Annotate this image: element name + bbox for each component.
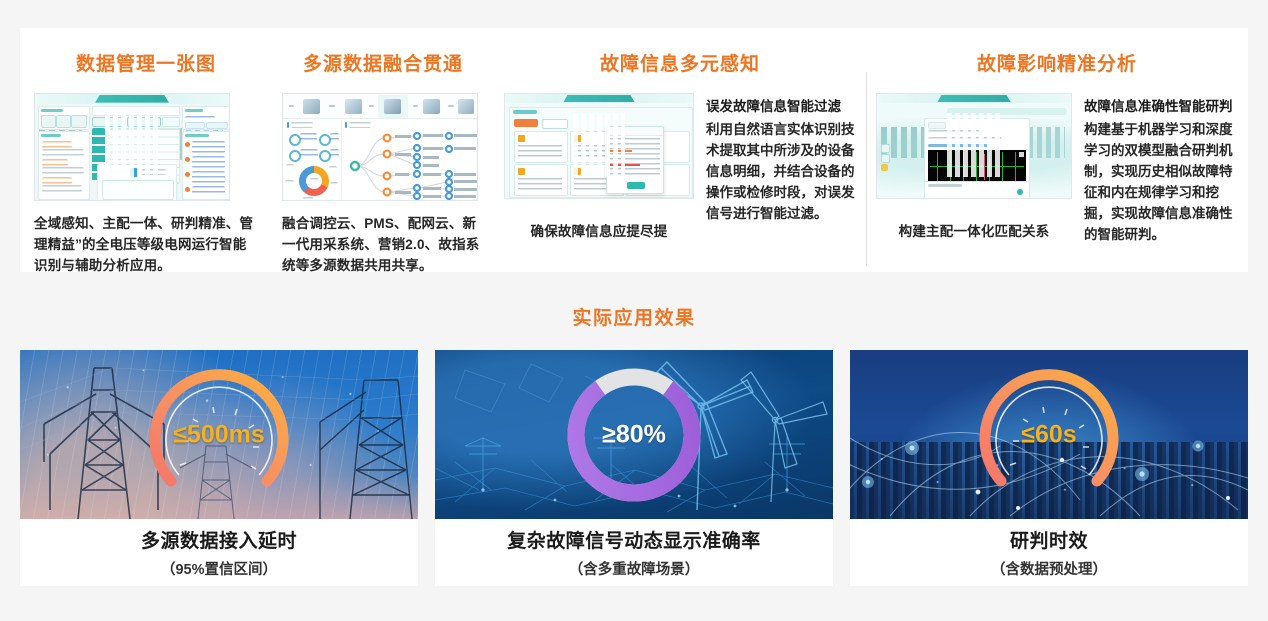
feature-caption-2: 融合调控云、PMS、配网云、新一代用采系统、营销2.0、故指系统等多源数据共用共…	[282, 213, 484, 276]
metric-title-1: 多源数据接入延时	[141, 526, 297, 553]
feature-subtext-3: 利用自然语言实体识别技术提取其中所涉及的设备信息明细，并结合设备的操作或检修时段…	[706, 119, 856, 224]
feature-caption-4: 构建主配一体化匹配关系	[876, 221, 1072, 242]
fusion-icon-2	[345, 99, 362, 114]
fault-information-perception-screenshot	[504, 93, 694, 199]
feature-title-1: 数据管理一张图	[34, 49, 258, 76]
turnaround-gauge: ≤60s	[969, 355, 1129, 515]
wind-turbines-grid-wireframe-photo: ≥80%	[435, 350, 833, 519]
metric-card-1: ≤500ms 多源数据接入延时 （95%置信区间）	[20, 350, 418, 586]
feature-subheading-3: 误发故障信息智能过滤	[706, 95, 856, 115]
shot-alarm-card	[514, 164, 568, 196]
feature-title-3: 故障信息多元感知	[504, 49, 856, 76]
shot-filter-3	[162, 117, 180, 127]
feature-card-3: 故障信息多元感知	[494, 28, 866, 272]
feature-card-4: 故障影响精准分析	[866, 28, 1248, 272]
shot-side-tool-3[interactable]	[881, 164, 888, 171]
metric-title-2: 复杂故障信号动态显示准确率	[507, 526, 761, 553]
city-skyline-network-photo: ≤60s	[850, 350, 1248, 519]
fusion-icon-5	[458, 99, 474, 114]
metric-card-body-1: 多源数据接入延时 （95%置信区间）	[20, 519, 418, 586]
fusion-icon-4	[423, 99, 440, 114]
shot-topbar	[35, 94, 229, 104]
shot-side-tool-2[interactable]	[881, 154, 890, 163]
transmission-towers-night-photo: ≤500ms	[20, 350, 418, 519]
fusion-icon-1	[303, 99, 320, 114]
shot-left-pane	[38, 106, 90, 130]
fusion-tree-diagram	[341, 124, 478, 201]
metric-card-2: ≥80% 复杂故障信号动态显示准确率 （含多重故障场景）	[435, 350, 833, 586]
feature-subtext-4: 构建基于机器学习和深度学习的双模型融合研判机制，实现历史相似故障特征和内在规律学…	[1084, 119, 1238, 245]
shot-topbar-title	[947, 113, 1001, 177]
metric-card-body-2: 复杂故障信号动态显示准确率 （含多重故障场景）	[435, 519, 833, 586]
feature-title-4: 故障影响精准分析	[876, 49, 1238, 76]
latency-gauge: ≤500ms	[139, 355, 299, 515]
metric-cards: ≤500ms 多源数据接入延时 （95%置信区间）	[20, 350, 1248, 586]
multi-source-data-fusion-screenshot	[282, 93, 478, 201]
shot-left-list-pane	[38, 131, 90, 200]
shot-side-tool-1[interactable]	[881, 144, 890, 153]
accuracy-gauge: ≥80%	[554, 355, 714, 515]
shot-topbar	[505, 94, 693, 103]
shot-btn-primary[interactable]	[514, 119, 538, 127]
shot-alert-list-pane	[182, 131, 230, 200]
section-title: 实际应用效果	[0, 303, 1268, 330]
shot-topbar-title	[105, 113, 159, 179]
data-management-dashboard-screenshot	[34, 93, 230, 201]
shot-right-top-pane	[182, 106, 230, 130]
metric-value-3: ≤60s	[1021, 420, 1076, 449]
metric-title-3: 研判时效	[1010, 526, 1088, 553]
fusion-icon-3	[384, 99, 401, 114]
feature-card-2: 多源数据融合贯通	[272, 28, 494, 272]
feature-caption-1: 全域感知、主配一体、研判精准、管理精益”的全电压等级电网运行智能识别与辅助分析应…	[34, 213, 258, 276]
metric-subtitle-2: （含多重故障场景）	[569, 558, 700, 579]
shot-alarm-card	[514, 131, 568, 163]
feature-title-2: 多源数据融合贯通	[282, 49, 484, 76]
metric-value-1: ≤500ms	[173, 420, 265, 449]
metric-subtitle-3: （含数据预处理）	[991, 558, 1107, 579]
feature-subheading-4: 故障信息准确性智能研判	[1084, 95, 1238, 115]
metric-subtitle-1: （95%置信区间）	[161, 558, 277, 579]
shot-modal-ok-button[interactable]	[627, 182, 645, 189]
metric-value-2: ≥80%	[602, 420, 666, 449]
metric-card-body-3: 研判时效 （含数据预处理）	[850, 519, 1248, 586]
shot-btn-secondary[interactable]	[542, 119, 568, 129]
fault-impact-analysis-screenshot	[876, 93, 1072, 199]
shot-topbar	[877, 94, 1071, 103]
feature-caption-3: 确保故障信息应提尽提	[504, 221, 694, 242]
features-panel: 数据管理一张图	[20, 28, 1248, 272]
feature-card-1: 数据管理一张图	[20, 28, 272, 272]
metric-card-3: ≤60s 研判时效 （含数据预处理）	[850, 350, 1248, 586]
shot-topbar-title	[573, 113, 626, 177]
